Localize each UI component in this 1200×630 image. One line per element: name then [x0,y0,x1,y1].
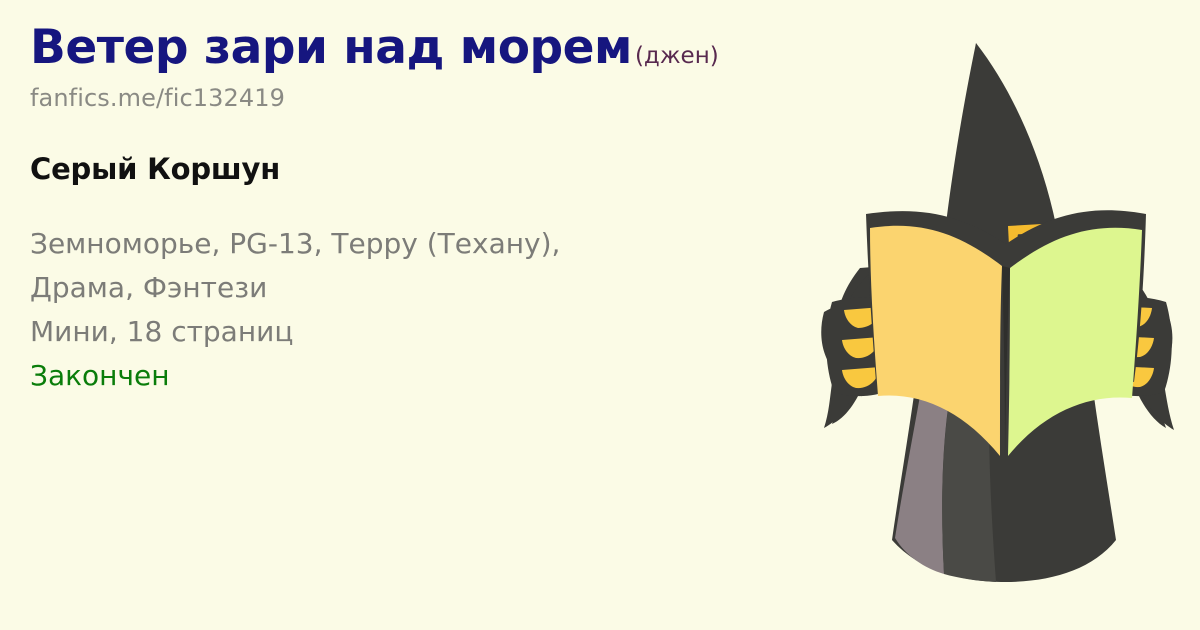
fic-meta-line-genres: Драма, Фэнтези [30,266,820,310]
wizard-reading-book-illustration [800,0,1200,630]
status-badge: Закончен [30,354,820,398]
page-title: Ветер зари над морем [30,20,632,75]
fic-category-label: (джен) [635,43,719,69]
fic-author-name[interactable]: Серый Коршун [30,152,280,186]
title-row: Ветер зари над морем(джен) [30,24,830,71]
fanfic-preview-card: Ветер зари над морем(джен) fanfics.me/fi… [0,0,1200,630]
fic-meta-line-fandom: Земноморье, PG-13, Терру (Техану), [30,222,820,266]
text-column: Ветер зари над морем(джен) fanfics.me/fi… [30,0,830,630]
fic-meta-line-size: Мини, 18 страниц [30,310,820,354]
fic-metadata: Земноморье, PG-13, Терру (Техану), Драма… [30,222,820,398]
fic-url[interactable]: fanfics.me/fic132419 [30,84,285,112]
